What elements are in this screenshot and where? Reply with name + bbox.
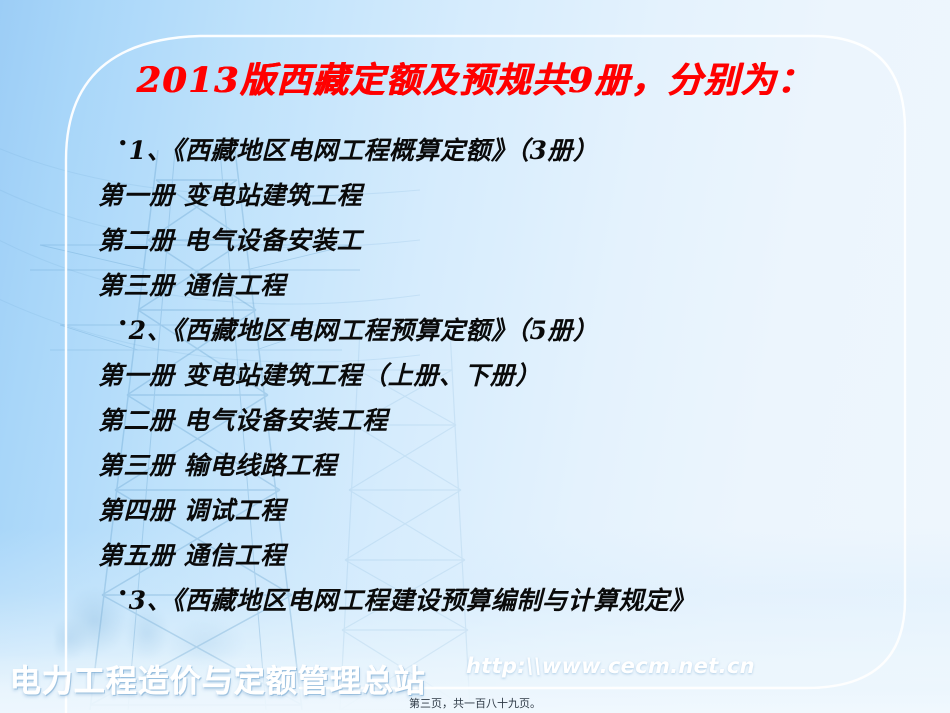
list-item: •2、《西藏地区电网工程预算定额》（5册） xyxy=(0,308,950,353)
slide-canvas: 2013版西藏定额及预规共9册，分别为： •1、《西藏地区电网工程概算定额》（3… xyxy=(0,0,950,713)
list-item: 第四册 调试工程 xyxy=(0,488,950,533)
list-item: 第一册 变电站建筑工程（上册、下册） xyxy=(0,353,950,398)
list-item: •3、《西藏地区电网工程建设预算编制与计算规定》 xyxy=(0,578,950,623)
list-item: 第三册 通信工程 xyxy=(0,263,950,308)
page-title: 2013版西藏定额及预规共9册，分别为： xyxy=(0,52,950,103)
list-item: 第二册 电气设备安装工程 xyxy=(0,398,950,443)
list-item: 第二册 电气设备安装工 xyxy=(0,218,950,263)
footer-website-url: http:\\www.cecm.net.cn xyxy=(466,654,755,678)
content-list: •1、《西藏地区电网工程概算定额》（3册） 第一册 变电站建筑工程 第二册 电气… xyxy=(0,128,950,623)
list-item: 第一册 变电站建筑工程 xyxy=(0,173,950,218)
list-item: 第五册 通信工程 xyxy=(0,533,950,578)
list-item: •1、《西藏地区电网工程概算定额》（3册） xyxy=(0,128,950,173)
list-item: 第三册 输电线路工程 xyxy=(0,443,950,488)
page-counter: 第三页，共一百八十九页。 xyxy=(0,695,950,711)
